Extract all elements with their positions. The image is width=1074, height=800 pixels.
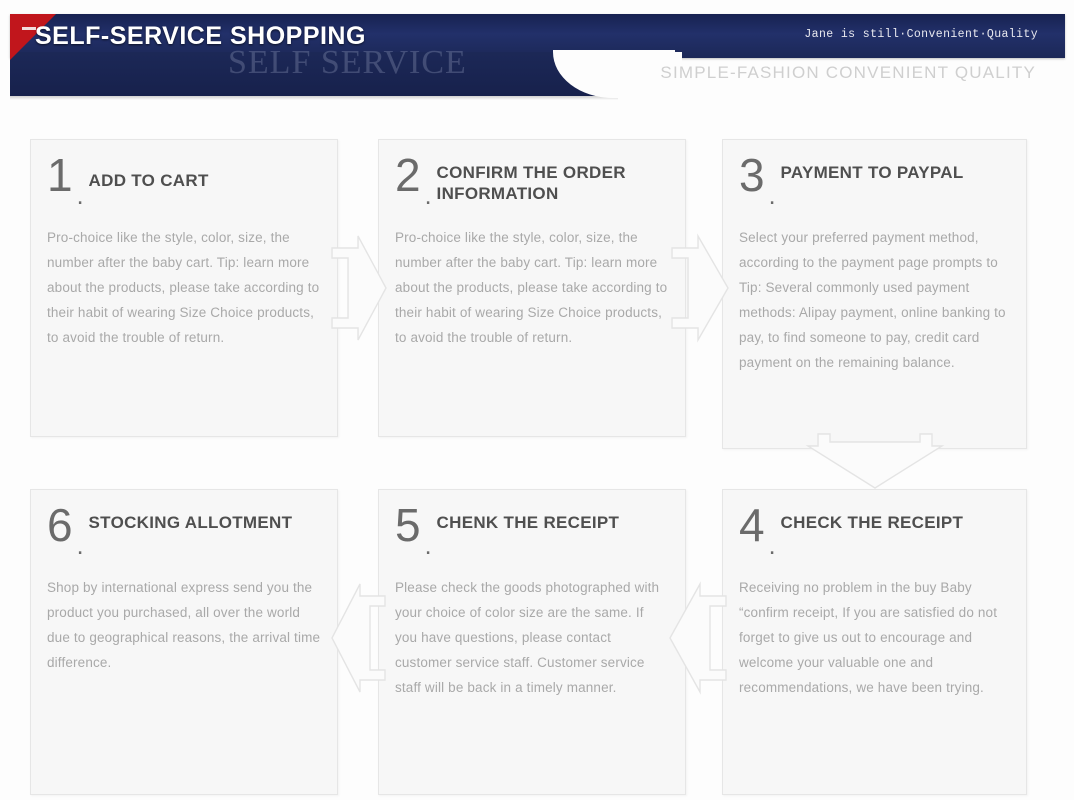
step-description: Pro-choice like the style, color, size, … [47,226,321,351]
step-title: CONFIRM THE ORDER INFORMATION [437,154,669,205]
page-title: SELF-SERVICE SHOPPING [35,22,366,51]
step-description: Shop by international express send you t… [47,576,321,676]
step-title: STOCKING ALLOTMENT [89,504,321,533]
step-number: 2 [395,154,421,196]
step-card-header: 2 . CONFIRM THE ORDER INFORMATION [395,154,669,212]
step-card-6: 6 . STOCKING ALLOTMENT Shop by internati… [30,489,338,795]
step-title: PAYMENT TO PAYPAL [781,154,1010,183]
step-number-dot: . [425,534,432,559]
step-description: Pro-choice like the style, color, size, … [395,226,669,351]
banner-tagline-secondary: SIMPLE-FASHION CONVENIENT QUALITY [660,63,1036,83]
step-card-5: 5 . CHENK THE RECEIPT Please check the g… [378,489,686,795]
step-card-header: 5 . CHENK THE RECEIPT [395,504,669,562]
step-number: 5 [395,504,421,546]
step-number: 1 [47,154,73,196]
step-card-1: 1 . ADD TO CART Pro-choice like the styl… [30,139,338,437]
step-title: ADD TO CART [89,154,321,191]
arrow-left-icon [330,578,388,698]
step-number-dot: . [425,184,432,209]
step-card-3: 3 . PAYMENT TO PAYPAL Select your prefer… [722,139,1027,449]
page-header-banner: SELF SERVICE SELF-SERVICE SHOPPING Jane … [0,0,1074,100]
step-description: Please check the goods photographed with… [395,576,669,701]
step-description: Select your preferred payment method, ac… [739,226,1010,376]
arrow-down-icon [800,432,950,490]
banner-tagline-primary: Jane is still·Convenient·Quality [804,28,1038,41]
arrow-left-icon [668,578,730,698]
step-card-4: 4 . CHECK THE RECEIPT Receiving no probl… [722,489,1027,795]
step-number-dot: . [77,184,84,209]
step-title: CHENK THE RECEIPT [437,504,669,533]
step-number: 3 [739,154,765,196]
step-number-dot: . [77,534,84,559]
step-number-dot: . [769,534,776,559]
step-card-header: 4 . CHECK THE RECEIPT [739,504,1010,562]
step-number-dot: . [769,184,776,209]
banner-drop-shadow [10,96,618,100]
step-card-header: 3 . PAYMENT TO PAYPAL [739,154,1010,212]
step-title: CHECK THE RECEIPT [781,504,1010,533]
arrow-right-icon [330,232,388,344]
arrow-right-icon [668,232,730,344]
step-number: 4 [739,504,765,546]
step-number: 6 [47,504,73,546]
step-description: Receiving no problem in the buy Baby “co… [739,576,1010,701]
step-card-header: 1 . ADD TO CART [47,154,321,212]
step-card-2: 2 . CONFIRM THE ORDER INFORMATION Pro-ch… [378,139,686,437]
corner-dash-icon [22,27,36,30]
step-card-header: 6 . STOCKING ALLOTMENT [47,504,321,562]
